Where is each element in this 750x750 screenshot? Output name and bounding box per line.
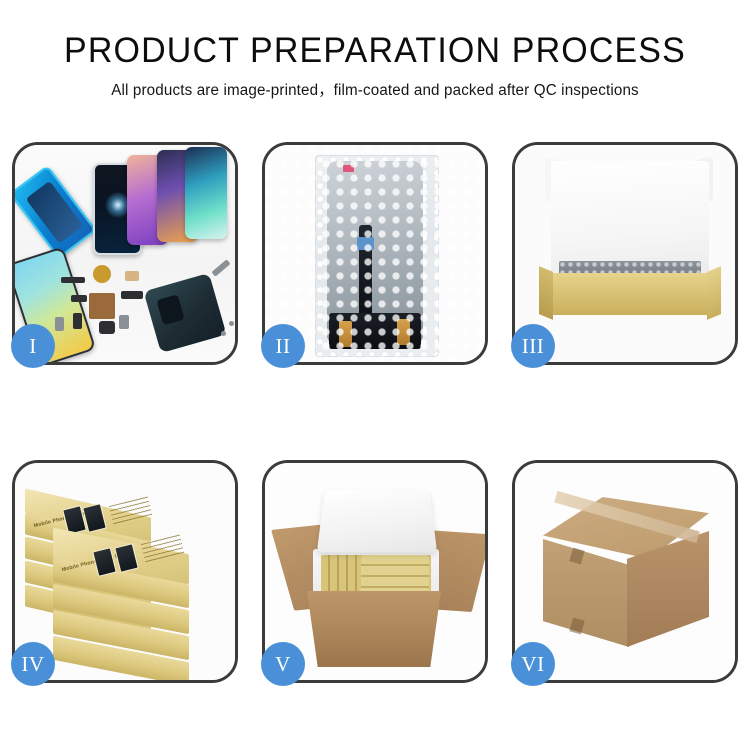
camera-bracket-part [125, 271, 139, 281]
carton-body [307, 591, 441, 667]
gold-connector-left [339, 321, 352, 347]
blue-adhesive-frame [15, 165, 97, 259]
screw-part [229, 321, 234, 326]
teal-phone-screen [185, 147, 227, 239]
small-connector-part [71, 295, 87, 302]
process-row-bottom: Mobile Phone Spare Parts Mobile Phone Sp… [0, 460, 750, 683]
tweezers-tool [211, 259, 230, 276]
phone-back-housing [143, 273, 226, 353]
gold-connector-right [397, 319, 410, 345]
battery-connector-part [119, 315, 129, 329]
earpiece-part [99, 321, 115, 334]
process-step-panel-4[interactable]: Mobile Phone Spare Parts Mobile Phone Sp… [12, 460, 238, 683]
gold-box-stack: Mobile Phone Spare Parts Mobile Phone Sp… [21, 475, 233, 675]
gold-box-tray [545, 273, 715, 315]
driver-ic-chip [357, 237, 374, 250]
logic-board-part [89, 293, 115, 319]
process-step-panel-3[interactable]: III [512, 142, 738, 365]
pink-label-tag [343, 165, 354, 172]
process-step-grid: I II [0, 142, 750, 683]
process-step-panel-1[interactable]: I [12, 142, 238, 365]
flex-connector-part [61, 277, 85, 283]
step-badge-5: V [261, 642, 305, 686]
process-step-panel-2[interactable]: II [262, 142, 488, 365]
foam-lid [317, 490, 437, 552]
process-step-panel-6[interactable]: VI [512, 460, 738, 683]
vibrator-part [73, 313, 82, 329]
sim-tray-part [55, 317, 64, 331]
process-step-panel-5[interactable]: V [262, 460, 488, 683]
flex-cable-part [121, 291, 143, 299]
speaker-part [93, 265, 111, 283]
step-badge-6: VI [511, 642, 555, 686]
page-header: PRODUCT PREPARATION PROCESS All products… [0, 0, 750, 103]
page-subtitle: All products are image-printed，film-coat… [8, 79, 743, 103]
process-row-top: I II [0, 142, 750, 365]
page-title: PRODUCT PREPARATION PROCESS [11, 30, 739, 72]
step-badge-2: II [261, 324, 305, 368]
step-badge-3: III [511, 324, 555, 368]
screw-part [221, 331, 226, 336]
step-badge-1: I [11, 324, 55, 368]
carton-front-face [543, 539, 629, 647]
step-badge-4: IV [11, 642, 55, 686]
